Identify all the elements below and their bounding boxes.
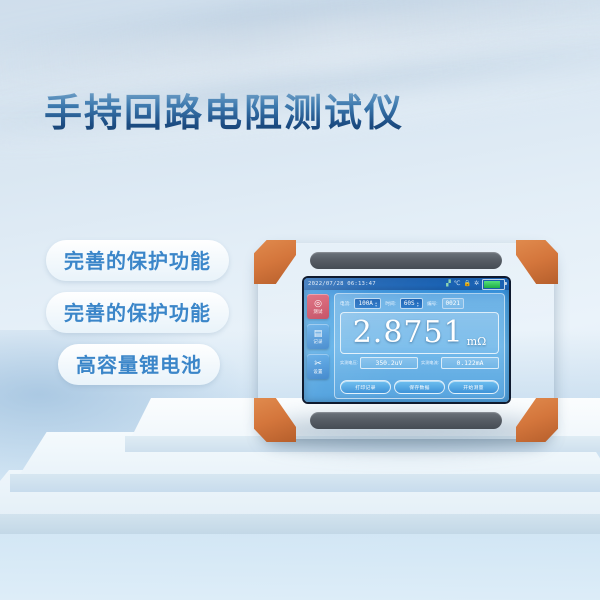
feature-badge: 完善的保护功能 <box>46 240 229 281</box>
screen-button-row: 打印记录 保存数据 开始测量 <box>340 380 499 395</box>
screen-sidebar: ◎ 测试 ▤ 记录 ✂ 设置 <box>304 290 333 402</box>
sidebar-item-label: 记录 <box>313 339 322 345</box>
poster-canvas: 手持回路电阻测试仪 完善的保护功能 完善的保护功能 高容量锂电池 2022/07… <box>0 0 600 600</box>
current-cell: 实测电流: 0.122mA <box>421 357 499 369</box>
serial-value: 0021 <box>442 298 464 309</box>
records-icon: ▤ <box>314 329 323 338</box>
current-measured-label: 实测电流: <box>421 360 439 366</box>
time-select[interactable]: 60S ▴▾ <box>400 298 423 309</box>
bluetooth-icon: ✲ <box>474 281 479 287</box>
lock-icon: 🔒 <box>463 281 470 287</box>
page-title: 手持回路电阻测试仪 <box>44 92 404 138</box>
save-button[interactable]: 保存数据 <box>394 380 445 394</box>
current-measured-value: 0.122mA <box>441 357 499 369</box>
reading-value: 2.8751 <box>353 318 464 348</box>
sidebar-item-label: 设置 <box>313 369 322 375</box>
feature-badge: 高容量锂电池 <box>58 344 220 385</box>
feature-badge: 完善的保护功能 <box>46 292 229 333</box>
target-icon: ◎ <box>314 299 322 308</box>
voltage-cell: 实测电压: 350.2uV <box>340 357 418 369</box>
device-screen[interactable]: 2022/07/28 06:13:47 ▞ ℃ 🔒 ✲ ◎ 测试 ▤ <box>304 278 509 402</box>
battery-icon <box>482 279 505 290</box>
measurement-panel: 电流: 100A ▴▾ 时间: 60S ▴▾ 编号: 0021 <box>334 293 505 399</box>
status-datetime: 2022/07/28 06:13:47 <box>308 281 376 287</box>
temperature-icon: ℃ <box>454 281 461 287</box>
sidebar-item-records[interactable]: ▤ 记录 <box>307 324 329 349</box>
secondary-readings: 实测电压: 350.2uV 实测电流: 0.122mA <box>340 357 499 369</box>
current-select[interactable]: 100A ▴▾ <box>354 298 381 309</box>
feature-badge-list: 完善的保护功能 完善的保护功能 高容量锂电池 <box>46 240 229 385</box>
parameter-row: 电流: 100A ▴▾ 时间: 60S ▴▾ 编号: 0021 <box>340 298 499 309</box>
reading-unit: mΩ <box>467 335 487 353</box>
stepper-icon[interactable]: ▴▾ <box>417 301 419 307</box>
status-icon-group: ▞ ℃ 🔒 ✲ <box>446 279 505 290</box>
current-value: 100A <box>358 300 372 307</box>
stepper-icon[interactable]: ▴▾ <box>375 301 377 307</box>
primary-reading: 2.8751 mΩ <box>340 312 499 354</box>
signal-icon: ▞ <box>446 281 451 287</box>
sidebar-item-test[interactable]: ◎ 测试 <box>307 294 329 319</box>
voltage-value: 350.2uV <box>360 357 418 369</box>
time-value: 60S <box>404 300 415 307</box>
sidebar-item-label: 测试 <box>313 309 322 315</box>
print-button[interactable]: 打印记录 <box>340 380 391 394</box>
current-label: 电流: <box>340 301 350 307</box>
device-bottom-grip <box>310 412 502 429</box>
sidebar-item-settings[interactable]: ✂ 设置 <box>307 354 329 379</box>
time-label: 时间: <box>385 301 395 307</box>
device-photo: 2022/07/28 06:13:47 ▞ ℃ 🔒 ✲ ◎ 测试 ▤ <box>258 243 554 439</box>
voltage-label: 实测电压: <box>340 360 358 366</box>
status-bar: 2022/07/28 06:13:47 ▞ ℃ 🔒 ✲ <box>304 278 509 290</box>
start-measure-button[interactable]: 开始测量 <box>448 380 499 394</box>
tools-icon: ✂ <box>314 359 322 368</box>
screen-content: ◎ 测试 ▤ 记录 ✂ 设置 电流: <box>304 290 509 402</box>
serial-label: 编号: <box>427 301 437 307</box>
device-top-grip <box>310 252 502 269</box>
